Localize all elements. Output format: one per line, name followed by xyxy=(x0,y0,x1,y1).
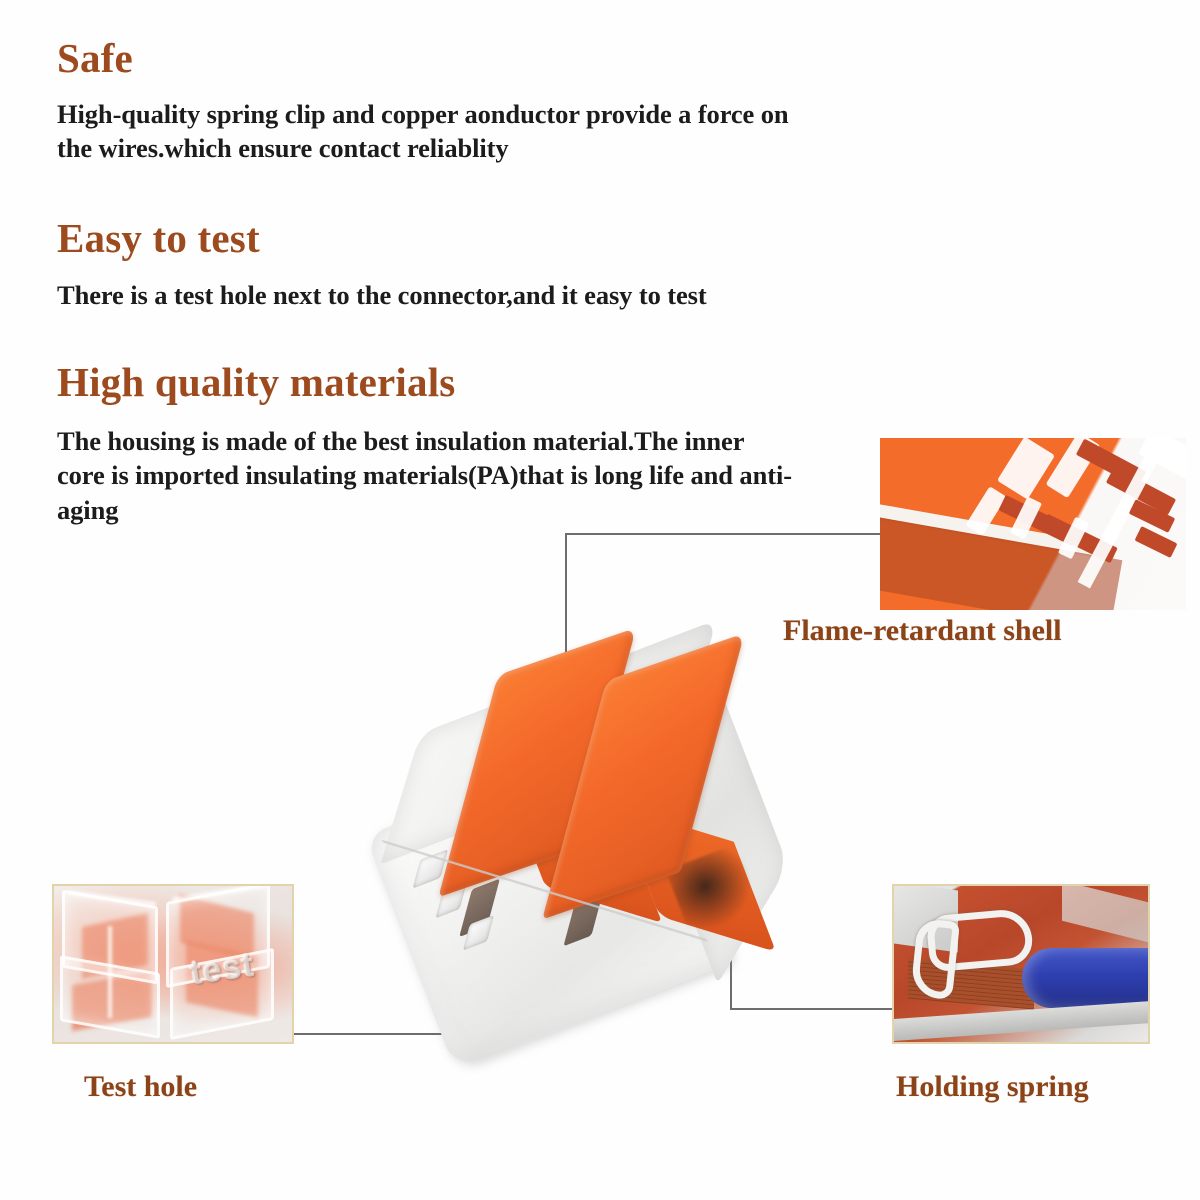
inset-photo-flame-retardant-shell xyxy=(880,438,1186,610)
infographic-canvas: Safe High-quality spring clip and copper… xyxy=(0,0,1200,1200)
callout-label-test-hole: Test hole xyxy=(84,1072,197,1102)
feature-body-safe: High-quality spring clip and copper aond… xyxy=(57,97,797,166)
feature-heading-easy-to-test: Easy to test xyxy=(57,218,260,259)
inset-photo-holding-spring xyxy=(892,884,1150,1044)
connector-body xyxy=(331,603,841,1103)
leader-line-shell-horizontal xyxy=(565,533,883,535)
feature-heading-high-quality-materials: High quality materials xyxy=(57,362,455,403)
feature-body-easy-to-test: There is a test hole next to the connect… xyxy=(57,278,797,312)
feature-body-high-quality-materials: The housing is made of the best insulati… xyxy=(57,424,797,527)
feature-heading-safe: Safe xyxy=(57,38,133,79)
product-photo-lever-connector xyxy=(352,596,852,1156)
inset-photo-test-hole: test xyxy=(52,884,294,1044)
callout-label-holding-spring: Holding spring xyxy=(896,1072,1089,1102)
